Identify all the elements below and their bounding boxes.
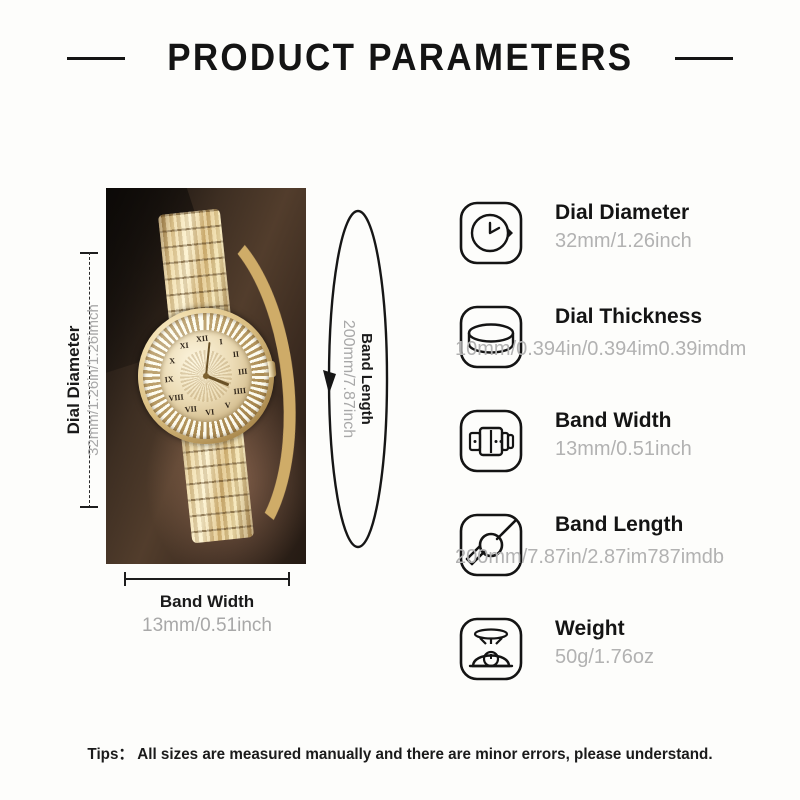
spec-text-band-length: Band Length 200mm/7.87in/2.87im787imdb: [555, 512, 795, 538]
band-width-label: Band Width: [124, 592, 290, 612]
dial-diameter-value: 32mm/1.26in/1.26imch: [85, 304, 102, 456]
dial-diameter-labels: Dial Diameter 32mm/1.26in/1.26imch: [64, 265, 102, 495]
spec-text-dial-thickness: Dial Thickness 10mm/0.394in/0.394im0.39i…: [555, 304, 795, 330]
dial-numeral: II: [232, 350, 239, 359]
dial-numeral: X: [169, 357, 176, 366]
watch-graphic: XIIIIIIIIIIIIVVIVIIVIIIIXXXI: [109, 204, 303, 549]
dial-numeral: I: [219, 338, 223, 346]
header-rule-left: [67, 57, 125, 60]
dial-numeral: III: [238, 368, 248, 377]
dial-numeral: XII: [196, 335, 209, 344]
dial-numeral: VI: [205, 408, 215, 417]
dial-numeral: VIII: [168, 393, 184, 403]
spec-row-dial-diameter: Dial Diameter 32mm/1.26inch: [455, 196, 785, 300]
band-length-value: 200mm/7.87inch: [339, 320, 357, 438]
band-length-label: Band Length: [358, 333, 375, 425]
product-photo: XIIIIIIIIIIIIVVIVIIVIIIIXXXI: [106, 188, 306, 564]
spec-text-dial-diameter: Dial Diameter 32mm/1.26inch: [555, 200, 795, 254]
dial-numeral: VII: [185, 405, 198, 414]
header-rule-right: [675, 57, 733, 60]
dimension-cap-right: [288, 572, 290, 586]
dial-numeral: V: [224, 402, 231, 411]
band-width-icon: [458, 408, 524, 474]
watch-dial-icon: [458, 200, 524, 266]
spec-value: 200mm/7.87in/2.87im787imdb: [455, 544, 800, 570]
dial-diameter-label: Dial Diameter: [64, 326, 84, 435]
spec-list: Dial Diameter 32mm/1.26inch Dial Thickne…: [455, 196, 785, 716]
band-length-loop: Band Length 200mm/7.87inch: [320, 198, 394, 560]
spec-name: Dial Thickness: [555, 304, 795, 330]
dial-numeral: IIII: [233, 386, 246, 395]
dial-numeral: XI: [179, 342, 189, 351]
band-width-dimension-line: [124, 572, 290, 586]
spec-row-band-length: Band Length 200mm/7.87in/2.87im787imdb: [455, 508, 785, 612]
dial-numeral: IX: [164, 375, 174, 384]
spec-name: Band Length: [555, 512, 795, 538]
spec-name: Weight: [555, 616, 795, 642]
spec-row-band-width: Band Width 13mm/0.51inch: [455, 404, 785, 508]
spec-text-weight: Weight 50g/1.76oz: [555, 616, 795, 670]
dimension-bar: [124, 578, 290, 580]
page-header: PRODUCT PARAMETERS: [0, 28, 800, 88]
spec-row-dial-thickness: Dial Thickness 10mm/0.394in/0.394im0.39i…: [455, 300, 785, 404]
spec-value: 13mm/0.51inch: [555, 436, 795, 462]
page-title: PRODUCT PARAMETERS: [167, 37, 633, 80]
spec-value: 32mm/1.26inch: [555, 228, 795, 254]
dimension-cap-bottom: [80, 506, 98, 508]
product-illustration-block: Dial Diameter 32mm/1.26in/1.26imch: [36, 180, 416, 640]
band-width-value: 13mm/0.51inch: [124, 615, 290, 637]
product-photo-background: XIIIIIIIIIIIIVVIVIIVIIIIXXXI: [106, 188, 306, 564]
spec-value: 50g/1.76oz: [555, 644, 795, 670]
band-width-dimension: Band Width 13mm/0.51inch: [124, 572, 290, 637]
spec-row-weight: Weight 50g/1.76oz: [455, 612, 785, 716]
footer-tips: Tips： All sizes are measured manually an…: [20, 740, 780, 764]
spec-text-band-width: Band Width 13mm/0.51inch: [555, 408, 795, 462]
spec-value: 10mm/0.394in/0.394im0.39imdm: [455, 336, 800, 362]
spec-name: Band Width: [555, 408, 795, 434]
weight-scale-icon: [458, 616, 524, 682]
band-length-labels: Band Length 200mm/7.87inch: [339, 259, 375, 499]
spec-name: Dial Diameter: [555, 200, 795, 226]
dial-diameter-dimension: Dial Diameter 32mm/1.26in/1.26imch: [56, 252, 102, 508]
